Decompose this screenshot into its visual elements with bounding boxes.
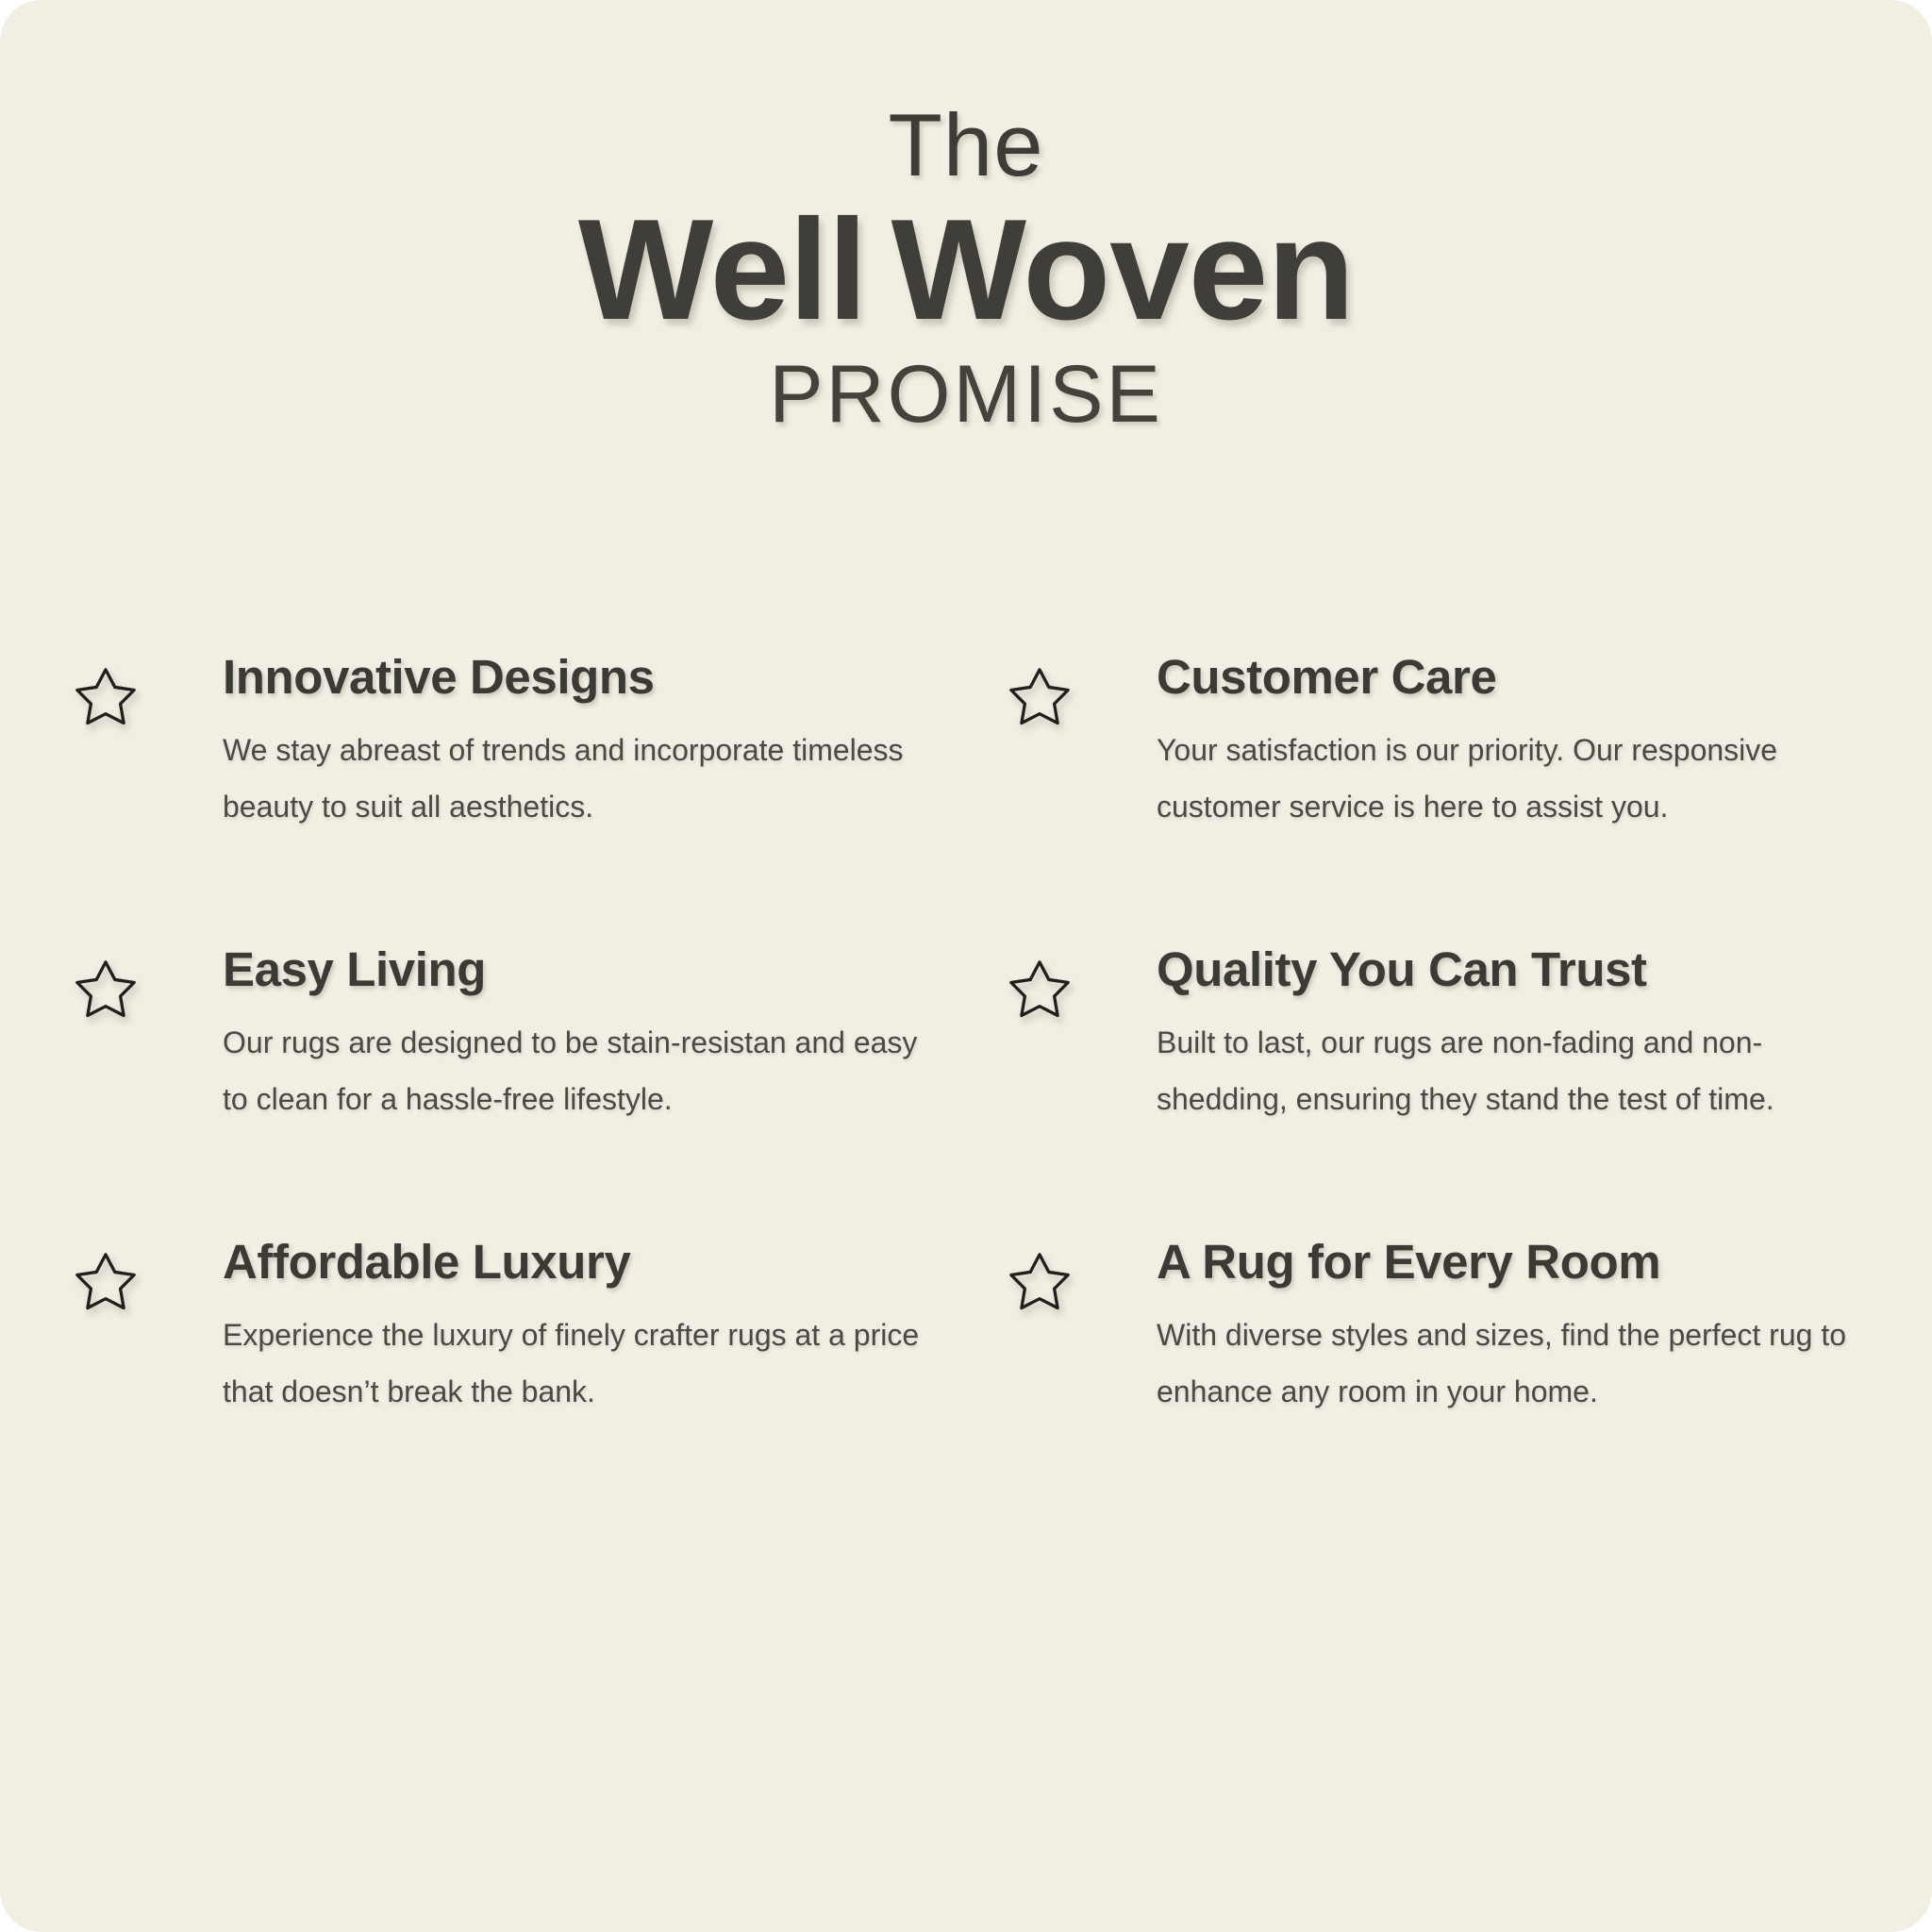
feature-body: Built to last, our rugs are non-fading a… xyxy=(1157,1014,1859,1127)
feature-row: Innovative Designs We stay abreast of tr… xyxy=(0,653,1932,945)
feature-body: Your satisfaction is our priority. Our r… xyxy=(1157,722,1859,835)
feature-title: Quality You Can Trust xyxy=(1157,945,1859,993)
feature-title: Affordable Luxury xyxy=(223,1238,925,1286)
feature-body: We stay abreast of trends and incorporat… xyxy=(223,722,925,835)
title-brand-word-2: Woven xyxy=(891,190,1354,350)
feature-item-customer-care: Customer Care Your satisfaction is our p… xyxy=(1008,653,1857,835)
feature-title: Innovative Designs xyxy=(223,653,925,701)
title-brand-word-1: Well xyxy=(578,190,867,350)
feature-title: Easy Living xyxy=(223,945,925,993)
star-outline-icon xyxy=(74,1249,138,1313)
star-outline-icon xyxy=(1008,664,1072,728)
feature-text: Quality You Can Trust Built to last, our… xyxy=(1157,945,1859,1127)
feature-body: With diverse styles and sizes, find the … xyxy=(1157,1307,1859,1420)
feature-item-innovative-designs: Innovative Designs We stay abreast of tr… xyxy=(74,653,923,835)
feature-title: Customer Care xyxy=(1157,653,1859,701)
star-outline-icon xyxy=(74,664,138,728)
star-outline-icon xyxy=(74,957,138,1021)
star-outline-icon xyxy=(1008,1249,1072,1313)
promise-card: The WellWoven PROMISE Innovative Designs… xyxy=(0,0,1932,1932)
feature-item-a-rug-for-every-room: A Rug for Every Room With diverse styles… xyxy=(1008,1238,1857,1420)
feature-item-easy-living: Easy Living Our rugs are designed to be … xyxy=(74,945,923,1127)
star-outline-icon xyxy=(1008,957,1072,1021)
feature-text: A Rug for Every Room With diverse styles… xyxy=(1157,1238,1859,1420)
title-subtitle: PROMISE xyxy=(0,354,1932,435)
feature-title: A Rug for Every Room xyxy=(1157,1238,1859,1286)
feature-body: Our rugs are designed to be stain-resist… xyxy=(223,1014,925,1127)
feature-item-quality-you-can-trust: Quality You Can Trust Built to last, our… xyxy=(1008,945,1857,1127)
title-brand: WellWoven xyxy=(0,194,1932,346)
feature-body: Experience the luxury of finely crafter … xyxy=(223,1307,925,1420)
title-block: The WellWoven PROMISE xyxy=(0,102,1932,435)
feature-text: Easy Living Our rugs are designed to be … xyxy=(223,945,925,1127)
feature-grid: Innovative Designs We stay abreast of tr… xyxy=(0,653,1932,1530)
feature-item-affordable-luxury: Affordable Luxury Experience the luxury … xyxy=(74,1238,923,1420)
feature-text: Affordable Luxury Experience the luxury … xyxy=(223,1238,925,1420)
feature-text: Innovative Designs We stay abreast of tr… xyxy=(223,653,925,835)
feature-row: Affordable Luxury Experience the luxury … xyxy=(0,1238,1932,1530)
title-eyebrow: The xyxy=(0,102,1932,189)
feature-text: Customer Care Your satisfaction is our p… xyxy=(1157,653,1859,835)
feature-row: Easy Living Our rugs are designed to be … xyxy=(0,945,1932,1238)
